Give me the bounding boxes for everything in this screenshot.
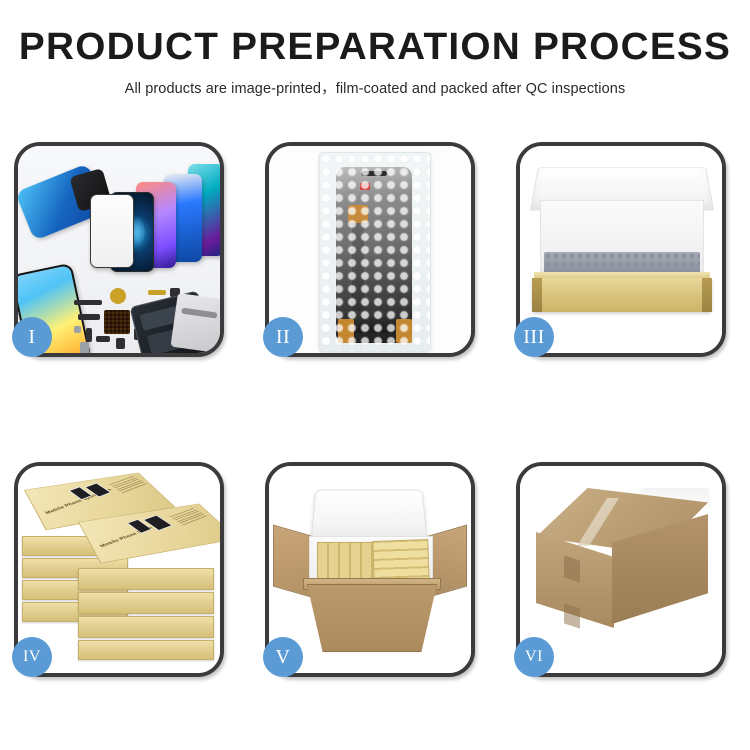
step-card-5[interactable]: V [265, 462, 475, 677]
step-card-6[interactable]: VI [516, 462, 726, 677]
step-image-4: Mobile Phone Spare Parts Mobile Phone Sp… [18, 466, 220, 673]
step-image-2 [269, 146, 471, 353]
repair-tools-graphic [170, 293, 220, 353]
gold-box-front-graphic [532, 278, 712, 312]
step-badge-5: V [263, 637, 303, 677]
step-badge-1: I [12, 317, 52, 357]
page-header: PRODUCT PREPARATION PROCESS All products… [0, 28, 750, 98]
carton-body-graphic [307, 584, 437, 652]
step-card-3[interactable]: III [516, 142, 726, 357]
connector-left-graphic [338, 319, 354, 343]
box-stack-graphic: Mobile Phone Spare Parts Mobile Phone Sp… [22, 484, 218, 662]
step-image-6 [520, 466, 722, 673]
step-badge-6: VI [514, 637, 554, 677]
step-badge-4: IV [12, 637, 52, 677]
tempered-glass-graphic [90, 194, 134, 268]
step-card-4[interactable]: Mobile Phone Spare Parts Mobile Phone Sp… [14, 462, 224, 677]
step-image-3 [520, 146, 722, 353]
step-image-1 [18, 146, 220, 353]
page-title: PRODUCT PREPARATION PROCESS [0, 28, 750, 68]
step-badge-2: II [263, 317, 303, 357]
foam-box-lid-graphic [310, 490, 427, 543]
product-preparation-page: PRODUCT PREPARATION PROCESS All products… [0, 0, 750, 750]
step-image-5 [269, 466, 471, 673]
step-badge-3: III [514, 317, 554, 357]
red-label-sticker [360, 183, 370, 190]
connector-right-graphic [396, 319, 412, 343]
page-subtitle: All products are image-printed，film-coat… [0, 77, 750, 98]
step-card-1[interactable]: I [14, 142, 224, 357]
process-step-grid: I II [14, 142, 736, 677]
step-card-2[interactable]: II [265, 142, 475, 357]
bubble-wrap-bag-graphic [319, 152, 431, 352]
